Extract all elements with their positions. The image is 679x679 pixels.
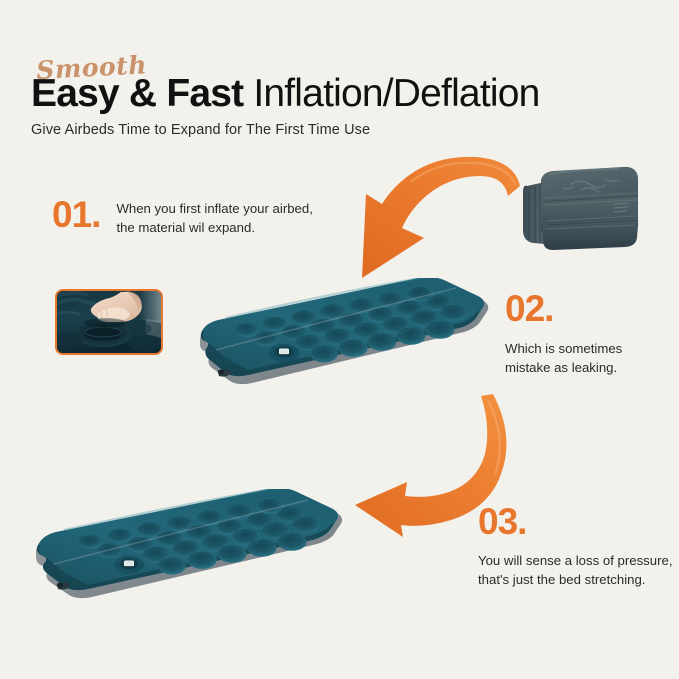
page-subtitle: Give Airbeds Time to Expand for The Firs… <box>31 122 641 138</box>
step-01: 01. When you first inflate your airbed, … <box>52 194 313 232</box>
infographic-canvas: Smooth Easy & Fast Inflation/Deflation G… <box>0 0 679 679</box>
step-03-line-2: that's just the bed stretching. <box>478 570 678 589</box>
step-01-number: 01. <box>52 196 100 233</box>
header: Smooth Easy & Fast Inflation/Deflation G… <box>31 52 641 138</box>
step-02-text: Which is sometimes mistake as leaking. <box>505 339 665 377</box>
step-01-line-2: the material wil expand. <box>116 218 312 237</box>
curved-arrow-two-icon <box>355 392 525 537</box>
page-title-light: Inflation/Deflation <box>243 72 539 115</box>
step-02-line-2: mistake as leaking. <box>505 358 665 377</box>
step-02: 02. Which is sometimes mistake as leakin… <box>505 290 665 377</box>
foot-press-inset-image <box>55 289 163 355</box>
curved-arrow-one-icon <box>352 152 522 292</box>
folded-airbed-image <box>519 158 643 255</box>
step-01-text: When you first inflate your airbed, the … <box>116 199 312 237</box>
airbed-illustration-bottom <box>22 489 352 609</box>
airbed-illustration-top <box>186 278 498 398</box>
step-02-line-1: Which is sometimes <box>505 339 665 358</box>
step-03-line-1: You will sense a loss of pressure, <box>478 551 678 570</box>
step-03-text: You will sense a loss of pressure, that'… <box>478 551 678 589</box>
script-accent-word: Smooth <box>36 52 148 83</box>
step-02-number: 02. <box>505 290 665 327</box>
step-01-line-1: When you first inflate your airbed, <box>116 199 312 218</box>
